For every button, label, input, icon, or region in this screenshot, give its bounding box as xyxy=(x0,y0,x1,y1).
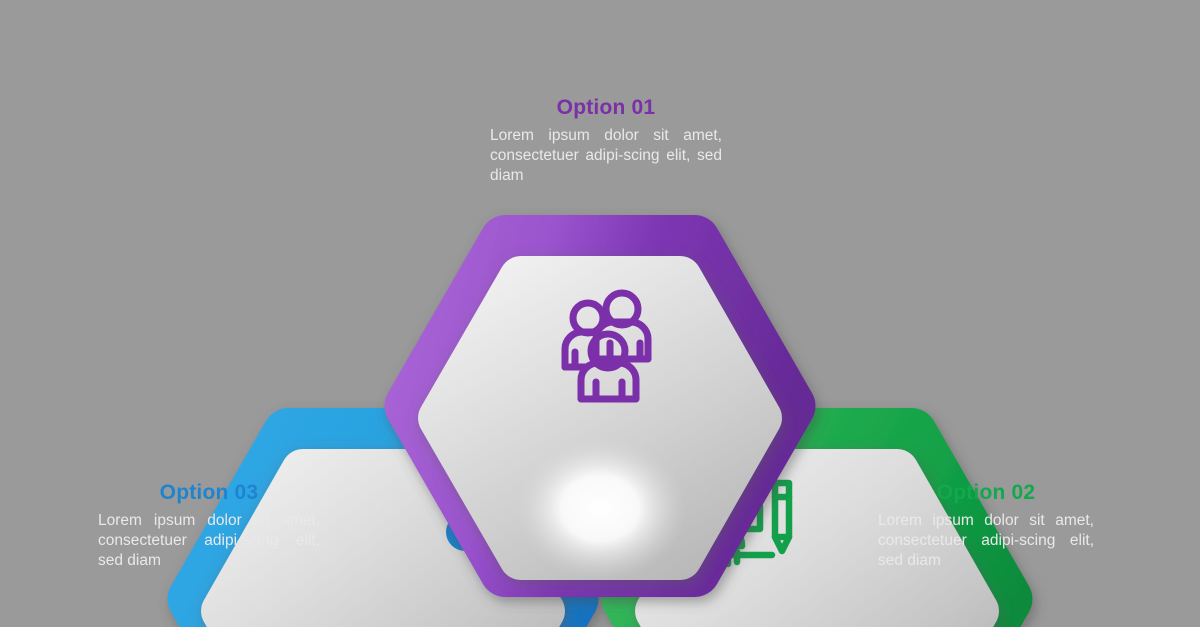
label-block-option-02: Option 02 Lorem ipsum dolor sit amet, co… xyxy=(878,481,1094,572)
option-02-body: Lorem ipsum dolor sit amet, consectetuer… xyxy=(878,511,1094,571)
option-03-title: Option 03 xyxy=(98,481,320,504)
hexagon-infographic: Option 01 Lorem ipsum dolor sit amet, co… xyxy=(0,0,1200,627)
option-02-title: Option 02 xyxy=(878,481,1094,504)
option-01-body: Lorem ipsum dolor sit amet, consectetuer… xyxy=(490,126,722,186)
label-block-option-01: Option 01 Lorem ipsum dolor sit amet, co… xyxy=(490,96,722,187)
label-block-option-03: Option 03 Lorem ipsum dolor sit amet, co… xyxy=(98,481,320,572)
option-01-title: Option 01 xyxy=(490,96,722,119)
option-03-body: Lorem ipsum dolor sit amet, consectetuer… xyxy=(98,511,320,571)
